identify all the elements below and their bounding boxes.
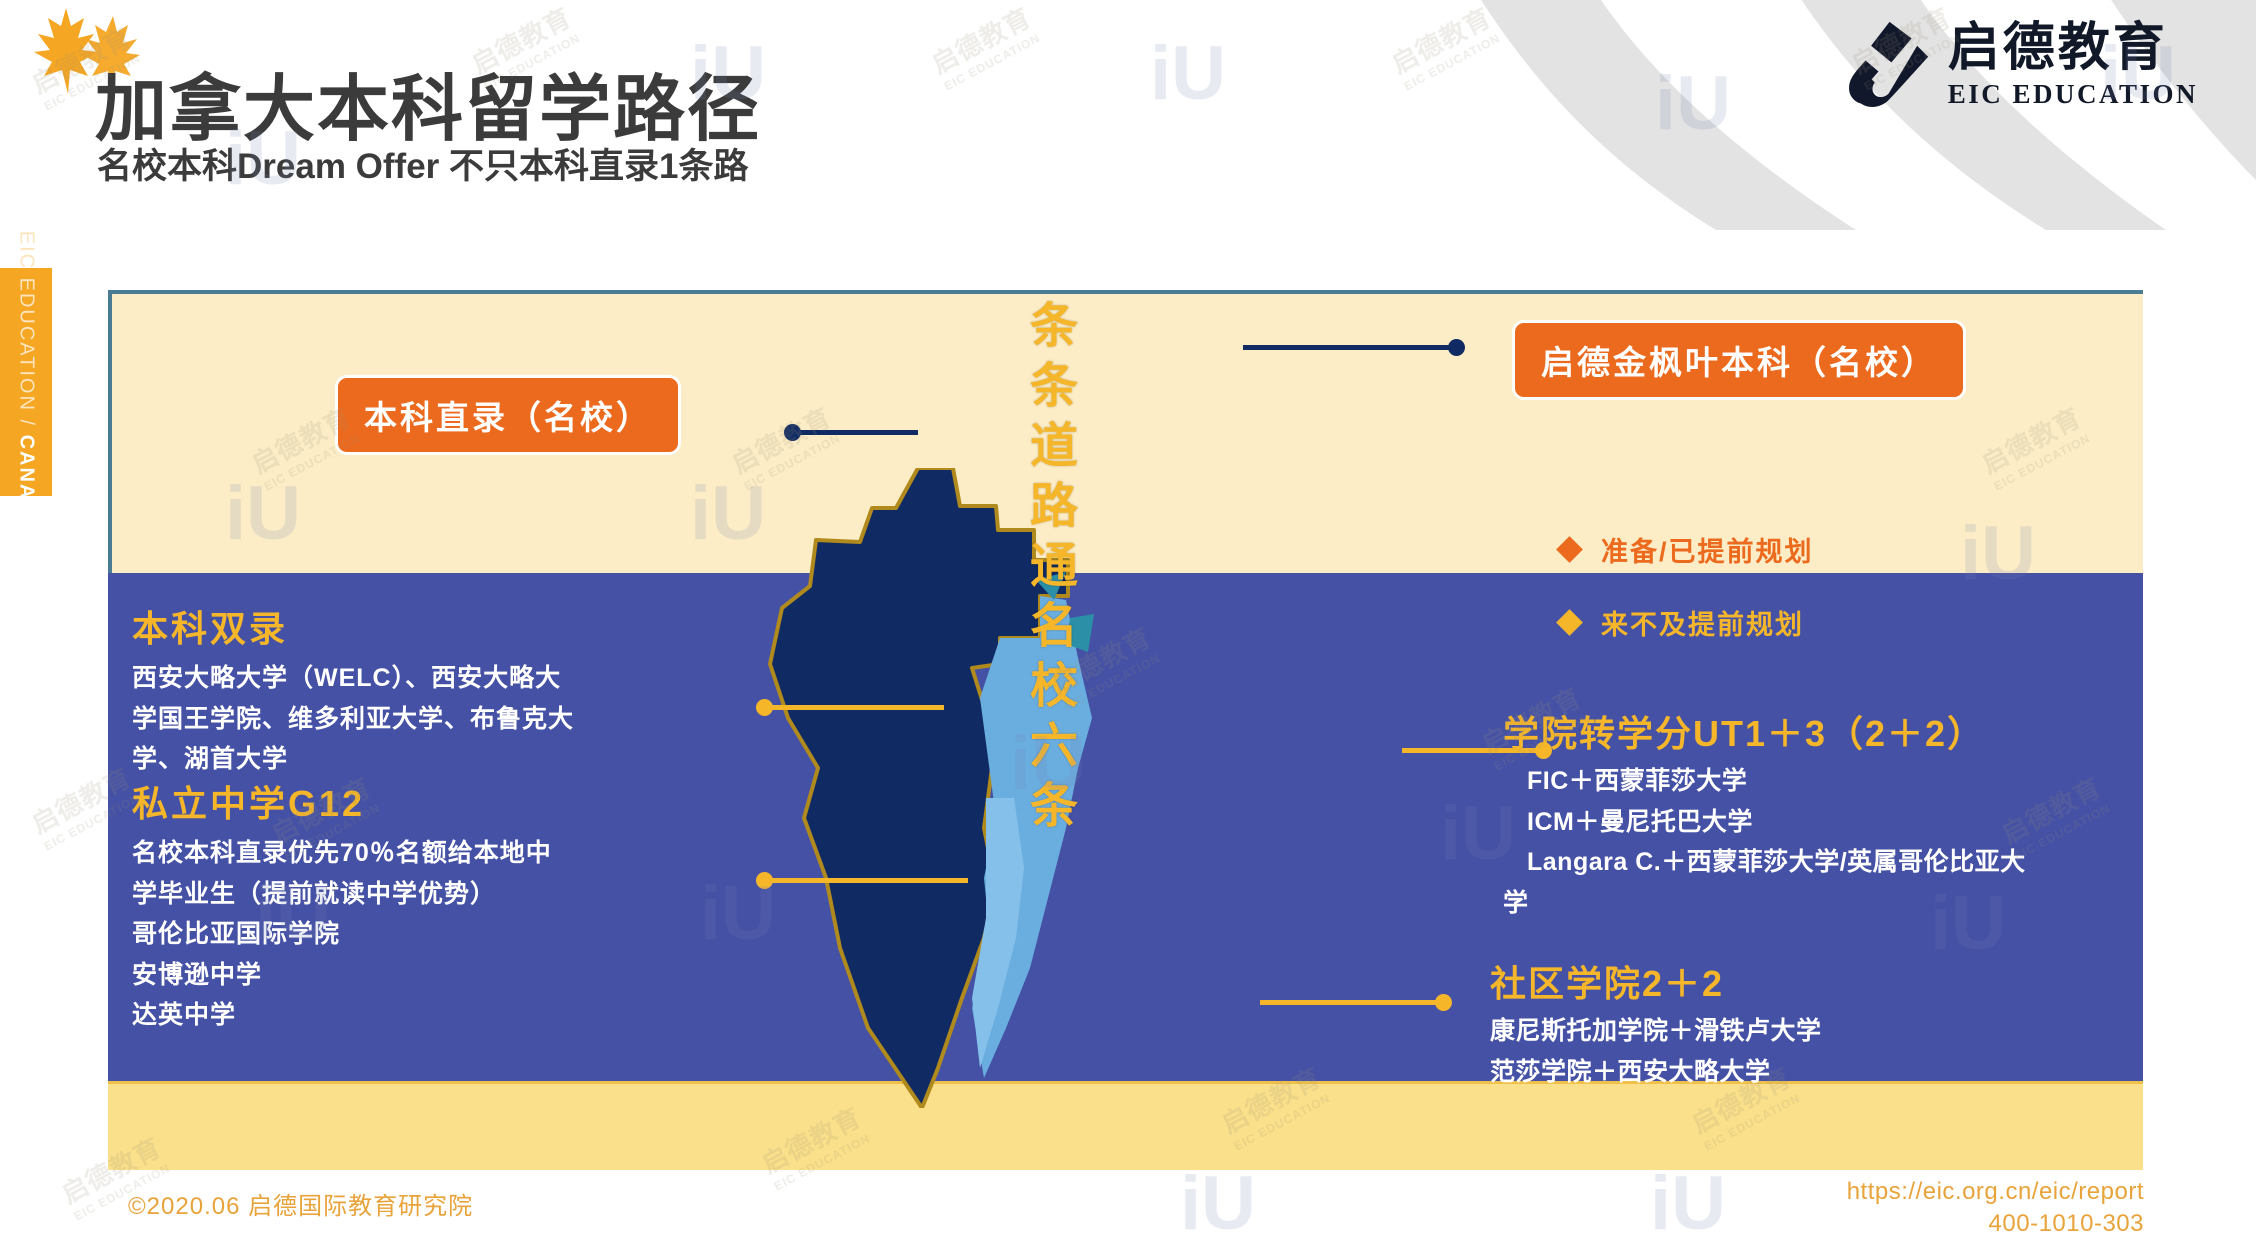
block-credit-transfer-line: ICM＋曼尼托巴大学 bbox=[1527, 802, 2203, 843]
block-private-school-line: 名校本科直录优先70％名额给本地中 bbox=[132, 833, 732, 874]
watermark-mark: iU bbox=[1150, 30, 1226, 117]
bullet-unprepared-label: 来不及提前规划 bbox=[1601, 603, 1804, 642]
watermark-mark: iU bbox=[1180, 1160, 1256, 1247]
page-subtitle: 名校本科Dream Offer 不只本科直录1条路 bbox=[97, 138, 748, 189]
badge-direct-admission[interactable]: 本科直录（名校） bbox=[335, 375, 681, 455]
diamond-bullet-icon bbox=[1556, 536, 1583, 563]
block-private-school: 私立中学G12 名校本科直录优先70％名额给本地中 学毕业生（提前就读中学优势）… bbox=[132, 775, 732, 1036]
connector-community-college bbox=[1260, 1000, 1450, 1005]
connector-dot-icon bbox=[1435, 994, 1452, 1011]
diamond-bullet-icon bbox=[1556, 609, 1583, 636]
block-credit-transfer-title: 学院转学分UT1＋3（2＋2） bbox=[1503, 705, 2203, 757]
block-credit-transfer-line: FIC＋西蒙菲莎大学 bbox=[1527, 761, 2203, 802]
block-community-college-title: 社区学院2＋2 bbox=[1490, 955, 2190, 1007]
watermark-text: 启德教育EIC EDUCATION bbox=[924, 0, 1043, 93]
bullet-prepared: 准备/已提前规划 bbox=[1560, 530, 1814, 569]
block-dual-admission-line: 西安大略大学（WELC）、西安大略大 bbox=[132, 658, 732, 699]
block-private-school-line: 达英中学 bbox=[132, 995, 732, 1036]
connector-dot-icon bbox=[756, 699, 773, 716]
badge-golden-maple[interactable]: 启德金枫叶本科（名校） bbox=[1512, 320, 1966, 400]
eic-logo: 启德教育 EIC EDUCATION bbox=[1838, 18, 2198, 114]
block-credit-transfer: 学院转学分UT1＋3（2＋2） FIC＋西蒙菲莎大学 ICM＋曼尼托巴大学 La… bbox=[1503, 705, 2203, 923]
block-community-college: 社区学院2＋2 康尼斯托加学院＋滑铁卢大学 范莎学院＋西安大略大学 bbox=[1490, 955, 2190, 1092]
side-tab-canada: EIC EDUCATION / CANADA bbox=[0, 268, 52, 496]
logo-chinese-name: 启德教育 bbox=[1948, 22, 2168, 75]
connector-dot-icon bbox=[1448, 339, 1465, 356]
side-tab-label-light: EIC EDUCATION / bbox=[16, 231, 38, 427]
connector-private-school bbox=[758, 878, 968, 883]
block-private-school-title: 私立中学G12 bbox=[132, 775, 732, 827]
footer-contact: https://eic.org.cn/eic/report 400-1010-3… bbox=[1847, 1176, 2144, 1241]
block-dual-admission-title: 本科双录 bbox=[132, 600, 732, 652]
watermark-mark: iU bbox=[1650, 1160, 1726, 1247]
block-credit-transfer-line: 学 bbox=[1503, 883, 2203, 924]
connector-direct-admission bbox=[786, 430, 918, 435]
footer-url[interactable]: https://eic.org.cn/eic/report bbox=[1847, 1176, 2144, 1208]
connector-golden-maple bbox=[1243, 345, 1463, 350]
eic-logo-mark-icon bbox=[1838, 18, 1930, 114]
logo-english-name: EIC EDUCATION bbox=[1948, 79, 2198, 110]
panel-left-rule bbox=[108, 290, 112, 573]
connector-dot-icon bbox=[784, 424, 801, 441]
block-private-school-line: 学毕业生（提前就读中学优势） bbox=[132, 874, 732, 915]
watermark-text: 启德教育EIC EDUCATION bbox=[1384, 0, 1503, 93]
block-private-school-line: 哥伦比亚国际学院 bbox=[132, 914, 732, 955]
block-dual-admission-line: 学国王学院、维多利亚大学、布鲁克大 bbox=[132, 699, 732, 740]
center-slogan: 条条道路通名校六条 bbox=[1000, 300, 1072, 840]
side-tab-label-strong: CANADA bbox=[16, 435, 38, 534]
block-private-school-line: 安博逊中学 bbox=[132, 955, 732, 996]
copyright-text: ©2020.06 启德国际教育研究院 bbox=[128, 1186, 473, 1221]
panel-top-rule bbox=[108, 290, 2143, 294]
footer-phone: 400-1010-303 bbox=[1847, 1208, 2144, 1240]
bullet-prepared-label: 准备/已提前规划 bbox=[1601, 530, 1814, 569]
panel-band-cream-bottom bbox=[108, 1081, 2143, 1170]
block-community-college-line: 范莎学院＋西安大略大学 bbox=[1490, 1052, 2190, 1093]
connector-dot-icon bbox=[756, 872, 773, 889]
block-community-college-line: 康尼斯托加学院＋滑铁卢大学 bbox=[1490, 1011, 2190, 1052]
block-dual-admission-line: 学、湖首大学 bbox=[132, 739, 732, 780]
block-dual-admission: 本科双录 西安大略大学（WELC）、西安大略大 学国王学院、维多利亚大学、布鲁克… bbox=[132, 600, 732, 780]
connector-dual-admission bbox=[758, 705, 944, 710]
bullet-unprepared: 来不及提前规划 bbox=[1560, 603, 1804, 642]
watermark-mark: iU bbox=[1655, 60, 1731, 147]
block-credit-transfer-line: Langara C.＋西蒙菲莎大学/英属哥伦比亚大 bbox=[1527, 842, 2203, 883]
